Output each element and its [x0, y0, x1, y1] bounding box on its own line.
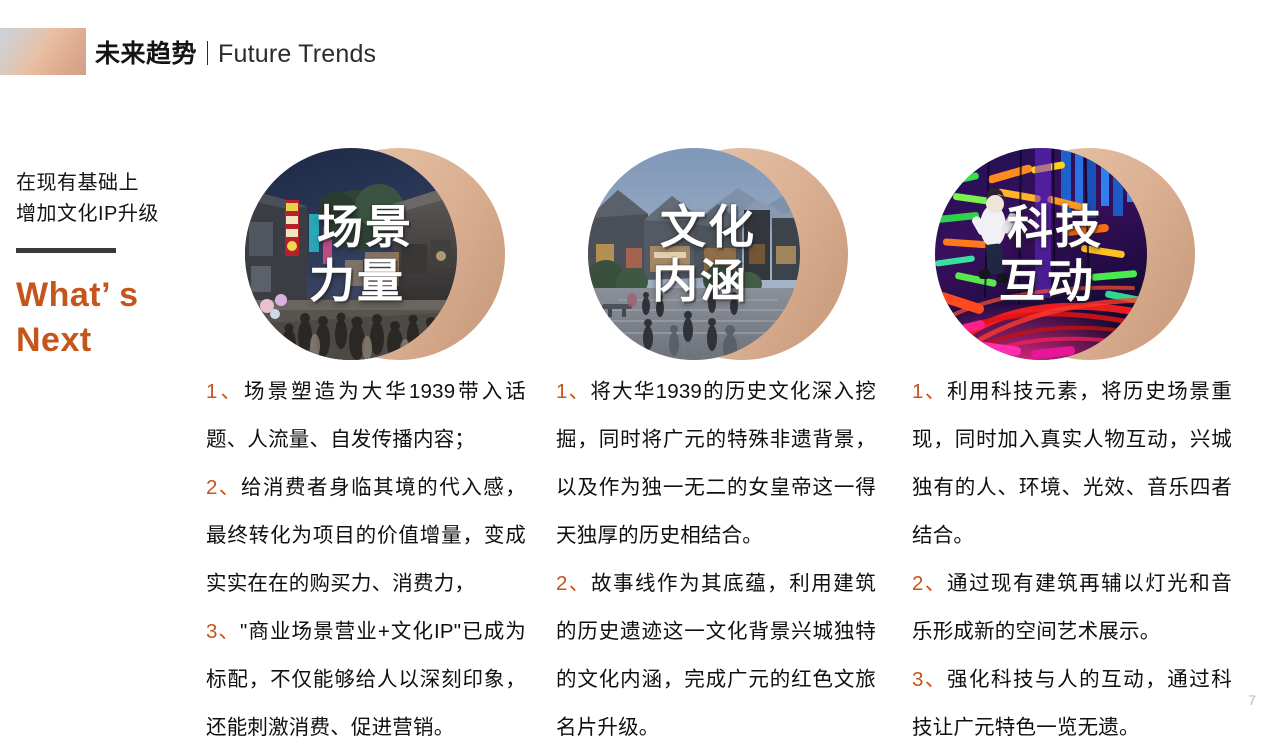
title-divider	[207, 41, 208, 65]
page-title: 未来趋势 Future Trends	[95, 34, 376, 70]
sidebar-subtitle-line-2: 增加文化IP升级	[16, 199, 196, 230]
sidebar-heading-line-1: What’ s	[16, 273, 196, 318]
list-item-number: 2、	[556, 572, 591, 595]
list-item-text: "商业场景营业+文化IP"已成为标配，不仅能够给人以深刻印象，还能刺激消费、促进…	[206, 620, 526, 739]
text-column-2: 1、将大华1939的历史文化深入挖掘，同时将广元的特殊非遗背景，以及作为独一无二…	[556, 368, 876, 752]
list-item: 1、利用科技元素，将历史场景重现，同时加入真实人物互动，兴城独有的人、环境、光效…	[912, 368, 1232, 560]
slide-header: 未来趋势 Future Trends	[0, 0, 1280, 100]
page-number: 7	[1248, 692, 1256, 708]
list-item: 1、场景塑造为大华1939带入话题、人流量、自发传播内容；	[206, 368, 526, 464]
list-item-text: 利用科技元素，将历史场景重现，同时加入真实人物互动，兴城独有的人、环境、光效、音…	[912, 380, 1232, 547]
list-item: 2、通过现有建筑再辅以灯光和音乐形成新的空间艺术展示。	[912, 560, 1232, 656]
list-item-number: 1、	[206, 380, 244, 403]
list-item-text: 将大华1939的历史文化深入挖掘，同时将广元的特殊非遗背景，以及作为独一无二的女…	[556, 380, 876, 547]
gradient-swatch-icon	[0, 28, 86, 75]
sidebar-subtitle-line-1: 在现有基础上	[16, 168, 196, 199]
list-item-number: 3、	[912, 668, 947, 691]
text-column-3: 1、利用科技元素，将历史场景重现，同时加入真实人物互动，兴城独有的人、环境、光效…	[912, 368, 1232, 752]
commercial-street-night-photo	[245, 148, 457, 360]
sidebar-divider	[16, 248, 116, 253]
sidebar-heading: What’ s Next	[16, 273, 196, 363]
feature-circle-2[interactable]: 文化 内涵	[588, 148, 888, 360]
text-column-1: 1、场景塑造为大华1939带入话题、人流量、自发传播内容； 2、给消费者身临其境…	[206, 368, 526, 752]
list-item-number: 3、	[206, 620, 240, 643]
list-item-number: 1、	[556, 380, 590, 403]
list-item-number: 1、	[912, 380, 947, 403]
town-plaza-dusk-photo	[588, 148, 800, 360]
neon-interactive-playground-photo	[935, 148, 1147, 360]
list-item: 1、将大华1939的历史文化深入挖掘，同时将广元的特殊非遗背景，以及作为独一无二…	[556, 368, 876, 560]
list-item: 3、"商业场景营业+文化IP"已成为标配，不仅能够给人以深刻印象，还能刺激消费、…	[206, 608, 526, 752]
sidebar: 在现有基础上 增加文化IP升级 What’ s Next	[16, 168, 196, 363]
list-item: 2、故事线作为其底蕴，利用建筑的历史遗迹这一文化背景兴城独特的文化内涵，完成广元…	[556, 560, 876, 752]
list-item-number: 2、	[206, 476, 241, 499]
list-item-text: 强化科技与人的互动，通过科技让广元特色一览无遗。	[912, 668, 1232, 739]
feature-circle-3[interactable]: 科技 互动	[935, 148, 1235, 360]
sidebar-heading-line-2: Next	[16, 318, 196, 363]
list-item: 3、强化科技与人的互动，通过科技让广元特色一览无遗。	[912, 656, 1232, 752]
list-item-number: 2、	[912, 572, 947, 595]
page-title-en: Future Trends	[218, 40, 376, 69]
list-item-text: 给消费者身临其境的代入感，最终转化为项目的价值增量，变成实实在在的购买力、消费力…	[206, 476, 526, 595]
page-title-cn: 未来趋势	[95, 34, 197, 70]
list-item: 2、给消费者身临其境的代入感，最终转化为项目的价值增量，变成实实在在的购买力、消…	[206, 464, 526, 608]
list-item-text: 故事线作为其底蕴，利用建筑的历史遗迹这一文化背景兴城独特的文化内涵，完成广元的红…	[556, 572, 876, 739]
list-item-text: 通过现有建筑再辅以灯光和音乐形成新的空间艺术展示。	[912, 572, 1232, 643]
list-item-text: 场景塑造为大华1939带入话题、人流量、自发传播内容；	[206, 380, 526, 451]
feature-circle-1[interactable]: 场景 力量	[245, 148, 545, 360]
